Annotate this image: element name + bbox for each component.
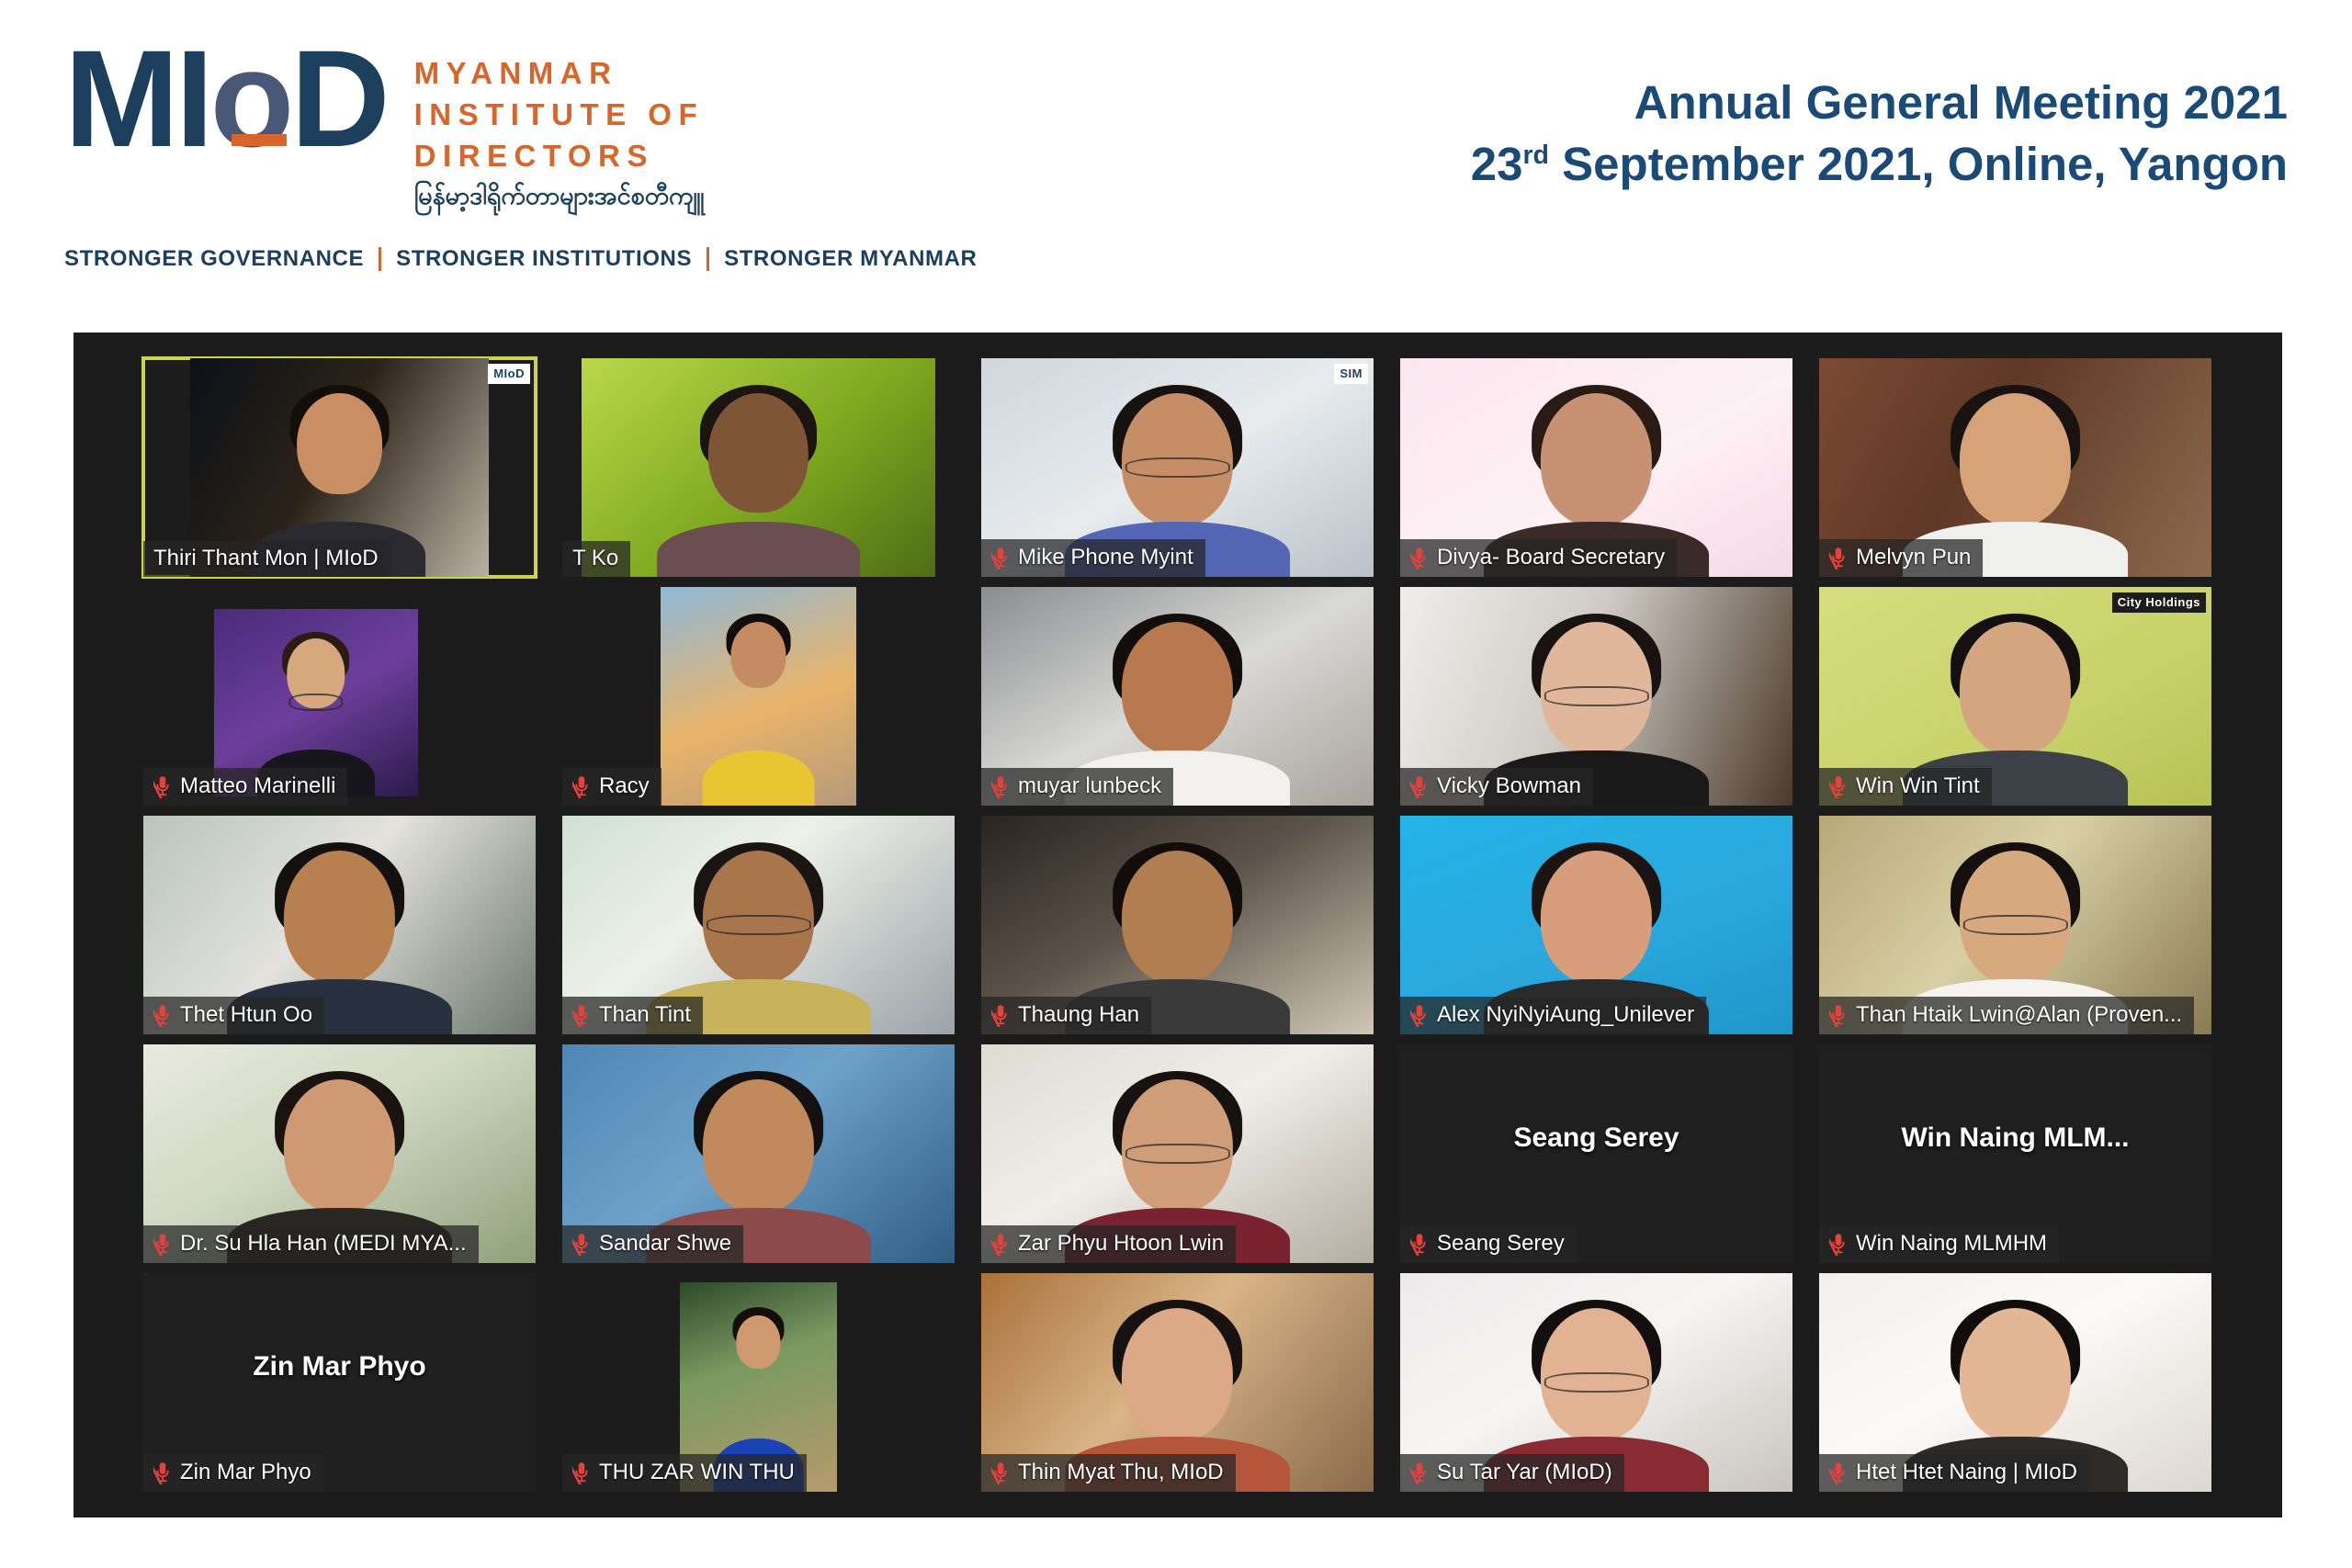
participant-name-text: Seang Serey (1437, 1233, 1565, 1255)
logo-mark-before: MI (64, 21, 210, 175)
figure-body (702, 750, 815, 806)
participant-tile[interactable]: Vicky Bowman (1400, 587, 1792, 806)
participant-name-text: Zin Mar Phyo (180, 1461, 311, 1483)
participant-tile[interactable]: Zin Mar Phyo Zin Mar Phyo (143, 1273, 536, 1492)
participant-name-label: Dr. Su Hla Han (MEDI MYA... (143, 1225, 479, 1263)
tagline-divider-2 (707, 247, 709, 271)
participant-name-text: Melvyn Pun (1856, 547, 1971, 569)
participant-center-name: Zin Mar Phyo (143, 1351, 536, 1382)
participant-video (661, 587, 857, 806)
meeting-title: Annual General Meeting 2021 23rd Septemb… (1471, 72, 2288, 196)
participant-tile[interactable]: Divya- Board Secretary (1400, 358, 1792, 577)
miod-logo: MIoD MYANMAR INSTITUTE OF DIRECTORS မြန်… (64, 33, 827, 281)
participant-name-label: Htet Htet Naing | MIoD (1819, 1454, 2089, 1492)
figure-glasses (707, 915, 811, 935)
participant-name-label: Zar Phyu Htoon Lwin (981, 1225, 1236, 1263)
participant-name-label: muyar lunbeck (981, 768, 1173, 806)
logo-line-directors: DIRECTORS (414, 136, 705, 177)
participant-tile[interactable]: SIM Mike Phone Myint (981, 358, 1374, 577)
participant-video (582, 358, 934, 577)
mic-muted-icon (991, 1232, 1010, 1256)
participant-tile[interactable]: Seang Serey Seang Serey (1400, 1044, 1792, 1263)
mic-muted-icon (1410, 1003, 1429, 1027)
mic-muted-icon (1829, 1232, 1848, 1256)
mic-muted-icon (153, 1232, 172, 1256)
mic-muted-icon (991, 774, 1010, 798)
figure-head (1960, 393, 2072, 526)
figure-glasses (1125, 1144, 1230, 1164)
participant-name-label: Vicky Bowman (1400, 768, 1593, 806)
logo-tagline: STRONGER GOVERNANCE STRONGER INSTITUTION… (64, 246, 977, 272)
logo-mark-ring: o (210, 21, 291, 175)
figure-head (1541, 393, 1653, 526)
figure-glasses (1544, 1372, 1649, 1393)
figure-head (1960, 1308, 2072, 1441)
figure-head (297, 393, 382, 494)
mic-muted-icon (1829, 1461, 1848, 1484)
mic-muted-icon (572, 774, 591, 798)
participant-name-text: Su Tar Yar (MIoD) (1437, 1461, 1612, 1483)
participant-name-label: Than Tint (562, 997, 703, 1034)
participant-tile[interactable]: Than Htaik Lwin@Alan (Proven... (1819, 816, 2211, 1034)
participant-name-label: Than Htaik Lwin@Alan (Proven... (1819, 997, 2194, 1034)
participant-name-label: Divya- Board Secretary (1400, 539, 1677, 577)
participant-name-label: Thet Htun Oo (143, 997, 324, 1034)
tagline-institutions: STRONGER INSTITUTIONS (396, 246, 692, 272)
logo-underline-accent (232, 134, 287, 146)
participant-name-text: Win Win Tint (1856, 775, 1980, 797)
meeting-date-ordinal: rd (1522, 141, 1549, 170)
logo-line-burmese: မြန်မာ့ဒါရိုက်တာများအင်စတီကျူ (414, 179, 705, 214)
figure-glasses (1963, 915, 2068, 935)
participant-name-text: Alex NyiNyiAung_Unilever (1437, 1004, 1694, 1026)
participant-name-text: Divya- Board Secretary (1437, 547, 1665, 569)
tagline-divider-1 (379, 247, 381, 271)
mic-muted-icon (1410, 1232, 1429, 1256)
participant-tile[interactable]: THU ZAR WIN THU (562, 1273, 955, 1492)
participant-name-text: T Ko (572, 547, 618, 570)
mic-muted-icon (572, 1232, 591, 1256)
participant-name-label: Thaung Han (981, 997, 1151, 1034)
tile-watermark-logo: City Holdings (2112, 592, 2206, 613)
participant-name-text: Thet Htun Oo (180, 1004, 312, 1026)
participant-name-text: Htet Htet Naing | MIoD (1856, 1461, 2077, 1483)
page-header: MIoD MYANMAR INSTITUTE OF DIRECTORS မြန်… (0, 0, 2352, 333)
participant-tile[interactable]: Thaung Han (981, 816, 1374, 1034)
figure-body (657, 522, 860, 577)
participant-tile[interactable]: Alex NyiNyiAung_Unilever (1400, 816, 1792, 1034)
participant-name-text: Vicky Bowman (1437, 775, 1581, 797)
participant-tile[interactable]: MIoD Thiri Thant Mon | MIoD (143, 358, 536, 577)
mic-muted-icon (153, 774, 172, 798)
participant-name-text: Dr. Su Hla Han (MEDI MYA... (180, 1233, 467, 1255)
participant-name-label: Thin Myat Thu, MIoD (981, 1454, 1236, 1492)
participant-name-text: muyar lunbeck (1018, 775, 1161, 797)
figure-head (1122, 622, 1234, 755)
tagline-governance: STRONGER GOVERNANCE (64, 246, 364, 272)
participant-name-label: Alex NyiNyiAung_Unilever (1400, 997, 1706, 1034)
figure-glasses (1544, 686, 1649, 706)
participant-tile[interactable]: muyar lunbeck (981, 587, 1374, 806)
figure-head (1122, 851, 1234, 984)
figure-head (708, 393, 809, 513)
participant-center-name: Win Naing MLM... (1819, 1122, 2211, 1154)
figure-head (1541, 851, 1653, 984)
participant-name-label: Zin Mar Phyo (143, 1454, 323, 1492)
participant-name-label: Sandar Shwe (562, 1225, 743, 1263)
figure-head (1960, 622, 2072, 755)
participant-tile[interactable]: Thin Myat Thu, MIoD (981, 1273, 1374, 1492)
participant-name-text: Thin Myat Thu, MIoD (1018, 1461, 1224, 1483)
participant-tile[interactable]: Su Tar Yar (MIoD) (1400, 1273, 1792, 1492)
miod-wordmark: MIoD (64, 33, 387, 164)
participant-name-text: Matteo Marinelli (180, 775, 335, 797)
participant-tile[interactable]: Thet Htun Oo (143, 816, 536, 1034)
participant-name-label: Mike Phone Myint (981, 539, 1205, 577)
mic-muted-icon (991, 1461, 1010, 1484)
mic-muted-icon (1410, 774, 1429, 798)
participant-name-text: Than Htaik Lwin@Alan (Proven... (1856, 1004, 2182, 1026)
mic-muted-icon (1410, 1461, 1429, 1484)
screenshot-root: MIoD MYANMAR INSTITUTE OF DIRECTORS မြန်… (0, 0, 2352, 1568)
participant-tile[interactable]: Matteo Marinelli (143, 587, 536, 806)
participant-name-label: Win Win Tint (1819, 768, 1992, 806)
participant-name-text: Than Tint (599, 1004, 691, 1026)
tile-watermark-logo: MIoD (488, 364, 530, 384)
participant-name-label: Win Naing MLMHM (1819, 1225, 2059, 1263)
tile-watermark-logo: SIM (1334, 364, 1368, 384)
participant-tile[interactable]: City Holdings Win Win Tint (1819, 587, 2211, 806)
participant-tile[interactable]: Sandar Shwe (562, 1044, 955, 1263)
participant-name-label: Thiri Thant Mon | MIoD (143, 541, 390, 577)
participant-name-text: Sandar Shwe (599, 1233, 731, 1255)
figure-head (736, 1315, 781, 1369)
figure-glasses (288, 694, 343, 711)
participant-tile[interactable]: Dr. Su Hla Han (MEDI MYA... (143, 1044, 536, 1263)
mic-muted-icon (991, 1003, 1010, 1027)
meeting-title-line1: Annual General Meeting 2021 (1471, 72, 2288, 133)
tagline-myanmar: STRONGER MYANMAR (724, 246, 977, 272)
participant-figure (677, 389, 840, 577)
figure-glasses (1125, 457, 1230, 478)
mic-muted-icon (572, 1461, 591, 1484)
participant-name-text: THU ZAR WIN THU (599, 1461, 795, 1483)
participant-name-text: Thiri Thant Mon | MIoD (153, 547, 379, 570)
participant-tile[interactable]: T Ko (562, 358, 955, 577)
participant-name-text: Win Naing MLMHM (1856, 1233, 2047, 1255)
figure-head (284, 851, 396, 984)
participant-name-text: Racy (599, 775, 650, 797)
participant-name-label: Matteo Marinelli (143, 768, 347, 806)
mic-muted-icon (153, 1003, 172, 1027)
participant-name-text: Zar Phyu Htoon Lwin (1018, 1233, 1224, 1255)
mic-muted-icon (1829, 546, 1848, 570)
mic-muted-icon (1829, 1003, 1848, 1027)
meeting-title-line2: 23rd September 2021, Online, Yangon (1471, 133, 2288, 195)
figure-head (703, 1079, 815, 1213)
logo-line-institute: INSTITUTE OF (414, 95, 705, 136)
participant-figure (713, 617, 803, 806)
participant-tile[interactable]: Zar Phyu Htoon Lwin (981, 1044, 1374, 1263)
meeting-date-rest: September 2021, Online, Yangon (1549, 138, 2288, 190)
figure-head (730, 622, 786, 689)
meeting-date-day: 23 (1471, 138, 1523, 190)
mic-muted-icon (1410, 546, 1429, 570)
figure-head (284, 1079, 396, 1213)
participant-name-label: Melvyn Pun (1819, 539, 1983, 577)
participant-name-label: T Ko (562, 541, 630, 577)
participant-tile[interactable]: Win Naing MLM... Win Naing MLMHM (1819, 1044, 2211, 1263)
zoom-meeting-panel: MIoD Thiri Thant Mon | MIoD T Ko (73, 333, 2282, 1517)
logo-mark-after: D (290, 21, 386, 175)
mic-muted-icon (991, 546, 1010, 570)
participant-tile[interactable]: Than Tint (562, 816, 955, 1034)
mic-muted-icon (572, 1003, 591, 1027)
logo-institute-text: MYANMAR INSTITUTE OF DIRECTORS မြန်မာ့ဒါ… (414, 33, 705, 213)
logo-line-myanmar: MYANMAR (414, 53, 705, 95)
participant-center-name: Seang Serey (1400, 1122, 1792, 1154)
participant-tile[interactable]: Racy (562, 587, 955, 806)
participant-tile[interactable]: Htet Htet Naing | MIoD (1819, 1273, 2211, 1492)
mic-muted-icon (1829, 774, 1848, 798)
figure-head (1122, 1308, 1234, 1441)
participant-name-label: Racy (562, 768, 661, 806)
participant-name-label: THU ZAR WIN THU (562, 1454, 807, 1492)
participant-name-label: Su Tar Yar (MIoD) (1400, 1454, 1624, 1492)
participant-name-text: Thaung Han (1018, 1004, 1139, 1026)
participant-name-label: Seang Serey (1400, 1225, 1577, 1263)
participant-tile[interactable]: Melvyn Pun (1819, 358, 2211, 577)
mic-muted-icon (153, 1461, 172, 1484)
participant-grid: MIoD Thiri Thant Mon | MIoD T Ko (143, 358, 2212, 1492)
participant-name-text: Mike Phone Myint (1018, 547, 1193, 569)
